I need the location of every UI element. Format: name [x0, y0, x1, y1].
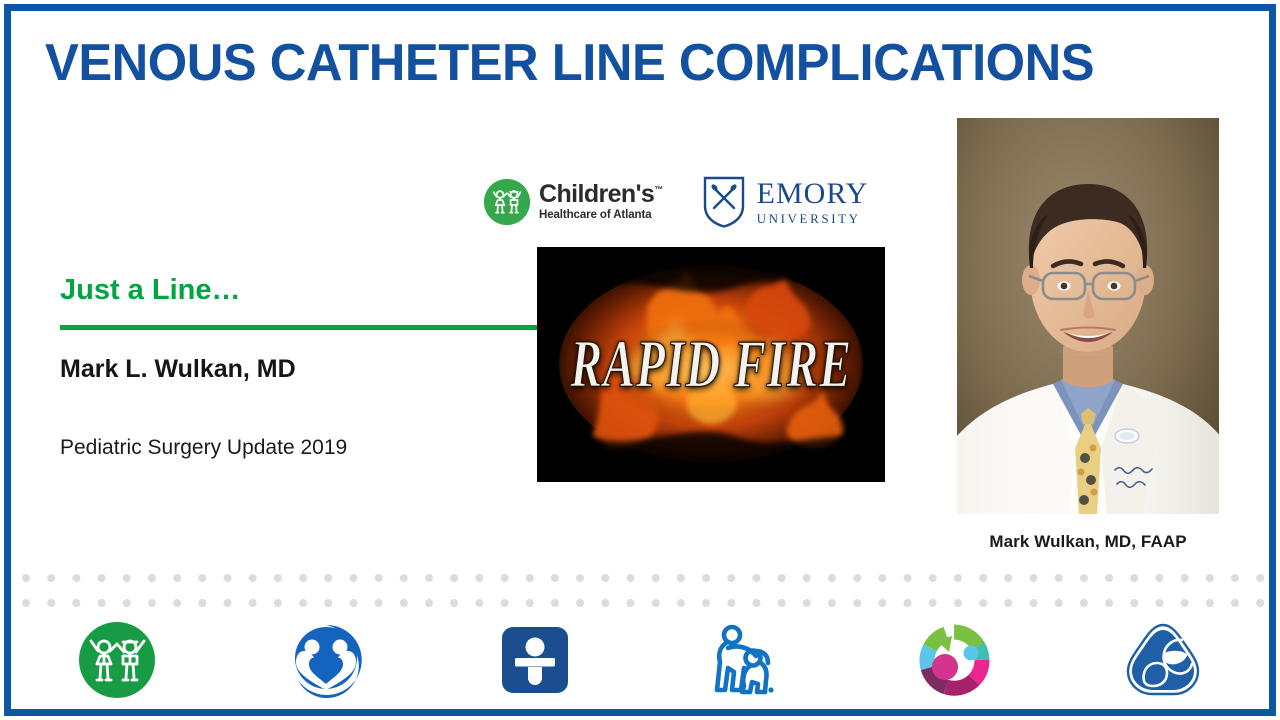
green-divider-rule	[60, 325, 538, 330]
childrens-healthcare-of-atlanta-icon	[12, 611, 221, 709]
multicolor-circle-icon	[849, 611, 1058, 709]
childrens-logo-text: Children's™ Healthcare of Atlanta	[539, 182, 663, 222]
portrait-caption: Mark Wulkan, MD, FAAP	[957, 532, 1219, 552]
childrens-logo-secondary: Healthcare of Atlanta	[539, 210, 663, 222]
emory-university-logo: EMORY UNIVERSITY	[703, 176, 869, 228]
mark-wulkan-portrait	[957, 118, 1219, 514]
left-text-block: Just a Line…	[60, 275, 540, 307]
trademark-mark: ™	[654, 185, 662, 195]
childrens-healthcare-of-atlanta-logo: Children's™ Healthcare of Atlanta	[484, 179, 663, 225]
emory-logo-primary: EMORY	[757, 179, 869, 209]
institution-logo-row: Children's™ Healthcare of Atlanta	[484, 176, 868, 228]
portrait-frame	[957, 118, 1219, 514]
blue-square-child-icon	[431, 611, 640, 709]
mother-child-triangle-icon	[1059, 611, 1268, 709]
emory-shield-icon	[703, 176, 745, 228]
emory-logo-secondary: UNIVERSITY	[757, 212, 869, 225]
dotted-decor-band	[12, 572, 1268, 610]
childrens-logo-primary: Children's™	[539, 182, 663, 207]
author-name: Mark L. Wulkan, MD	[60, 355, 296, 384]
rapid-fire-title: RAPID FIRE	[537, 335, 885, 394]
meeting-name: Pediatric Surgery Update 2019	[60, 436, 347, 460]
slide-subtitle: Just a Line…	[60, 275, 540, 307]
presentation-slide: VENOUS CATHETER LINE COMPLICATIONS Just …	[0, 0, 1280, 720]
page-title: VENOUS CATHETER LINE COMPLICATIONS	[45, 36, 1094, 91]
rapid-fire-graphic: RAPID FIRE	[537, 247, 885, 482]
apsa-icon	[640, 611, 849, 709]
childrens-kids-circle-icon	[484, 179, 530, 225]
partner-logo-bar	[12, 611, 1268, 709]
childrens-hospitals-heart-icon	[221, 611, 430, 709]
emory-logo-text: EMORY UNIVERSITY	[757, 179, 869, 225]
